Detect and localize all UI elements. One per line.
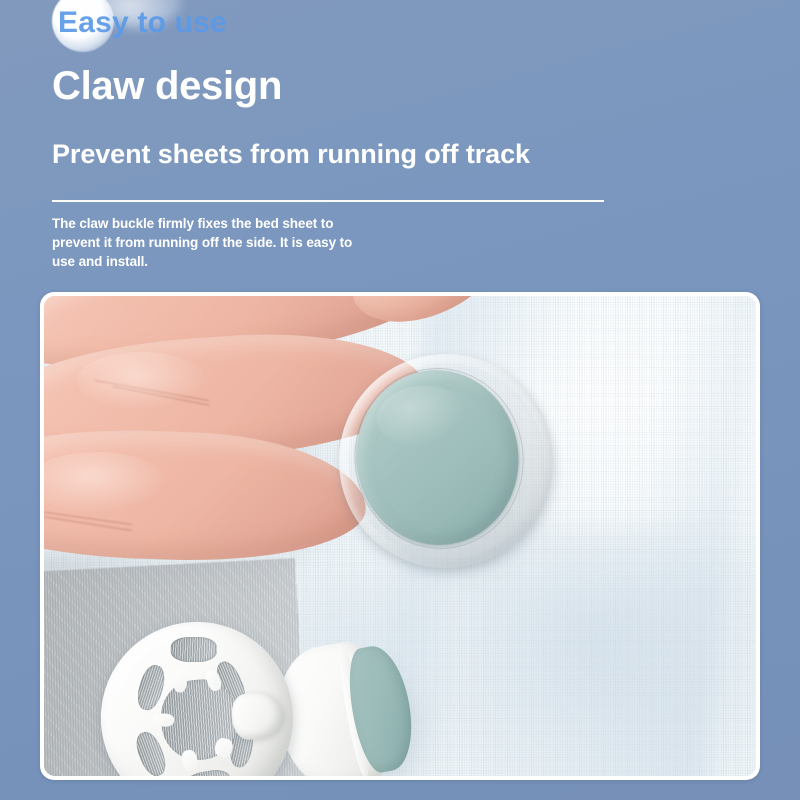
kicker-group: Easy to use	[52, 4, 472, 48]
product-photo-card	[40, 292, 760, 780]
fabric-fold-shading	[471, 526, 756, 776]
claw-disc	[91, 613, 302, 776]
page-subtitle: Prevent sheets from running off track	[52, 136, 530, 172]
page-title: Claw design	[52, 62, 282, 110]
claw-slot	[171, 638, 217, 663]
description-text: The claw buckle firmly fixes the bed she…	[52, 214, 372, 271]
product-feature-banner: Easy to use Claw design Prevent sheets f…	[0, 0, 800, 800]
main-claw-button	[326, 340, 567, 581]
button-gloss-highlight	[373, 380, 468, 451]
knuckle-highlight	[77, 352, 207, 409]
kicker-label: Easy to use	[58, 6, 227, 40]
horizontal-divider	[52, 200, 604, 202]
product-photo	[44, 296, 756, 776]
